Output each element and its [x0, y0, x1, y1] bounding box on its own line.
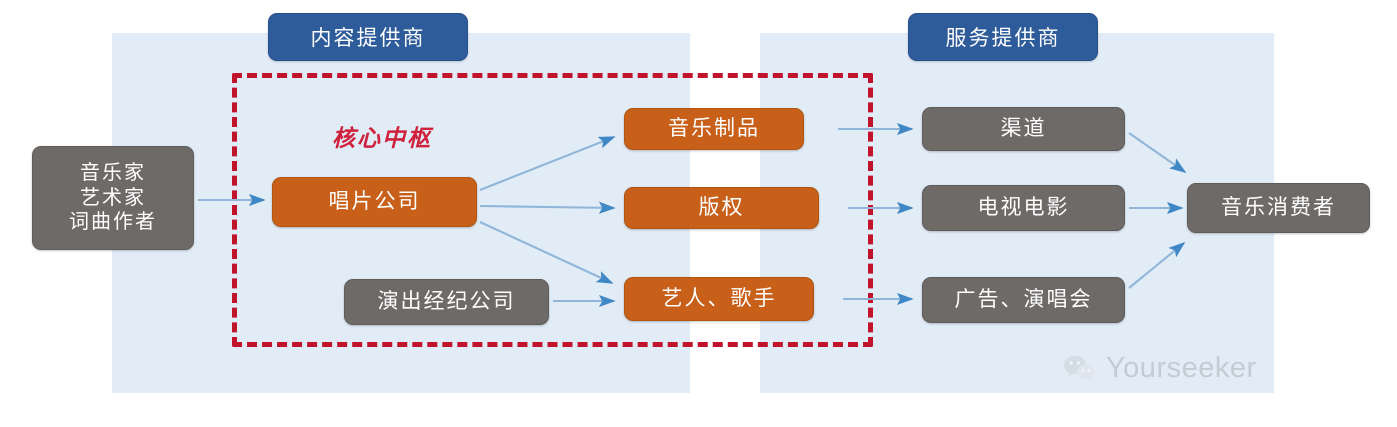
diagram-canvas: 内容提供商 服务提供商 核心中枢 音乐家 艺术家 词曲作者 唱片公司 演出经纪公… — [0, 0, 1397, 427]
watermark-text: Yourseeker — [1106, 352, 1257, 385]
node-performance-agency[interactable]: 演出经纪公司 — [344, 279, 549, 325]
core-hub-label: 核心中枢 — [332, 119, 432, 153]
wechat-icon — [1063, 355, 1097, 383]
watermark: Yourseeker — [1063, 352, 1257, 385]
node-ads-concerts[interactable]: 广告、演唱会 — [922, 277, 1125, 323]
node-artists-singers[interactable]: 艺人、歌手 — [624, 277, 814, 321]
header-content-provider: 内容提供商 — [268, 13, 468, 61]
node-label-company[interactable]: 唱片公司 — [272, 177, 477, 227]
node-copyright[interactable]: 版权 — [624, 187, 819, 229]
node-music-products[interactable]: 音乐制品 — [624, 108, 804, 150]
node-channel[interactable]: 渠道 — [922, 107, 1125, 151]
node-tv-film[interactable]: 电视电影 — [922, 185, 1125, 231]
node-creators-line-1: 音乐家 — [80, 161, 146, 185]
node-music-consumers[interactable]: 音乐消费者 — [1187, 183, 1370, 233]
header-service-provider: 服务提供商 — [908, 13, 1098, 61]
node-creators-line-2: 艺术家 — [80, 186, 146, 210]
node-creators-line-3: 词曲作者 — [69, 210, 157, 234]
node-creators[interactable]: 音乐家 艺术家 词曲作者 — [32, 146, 194, 250]
